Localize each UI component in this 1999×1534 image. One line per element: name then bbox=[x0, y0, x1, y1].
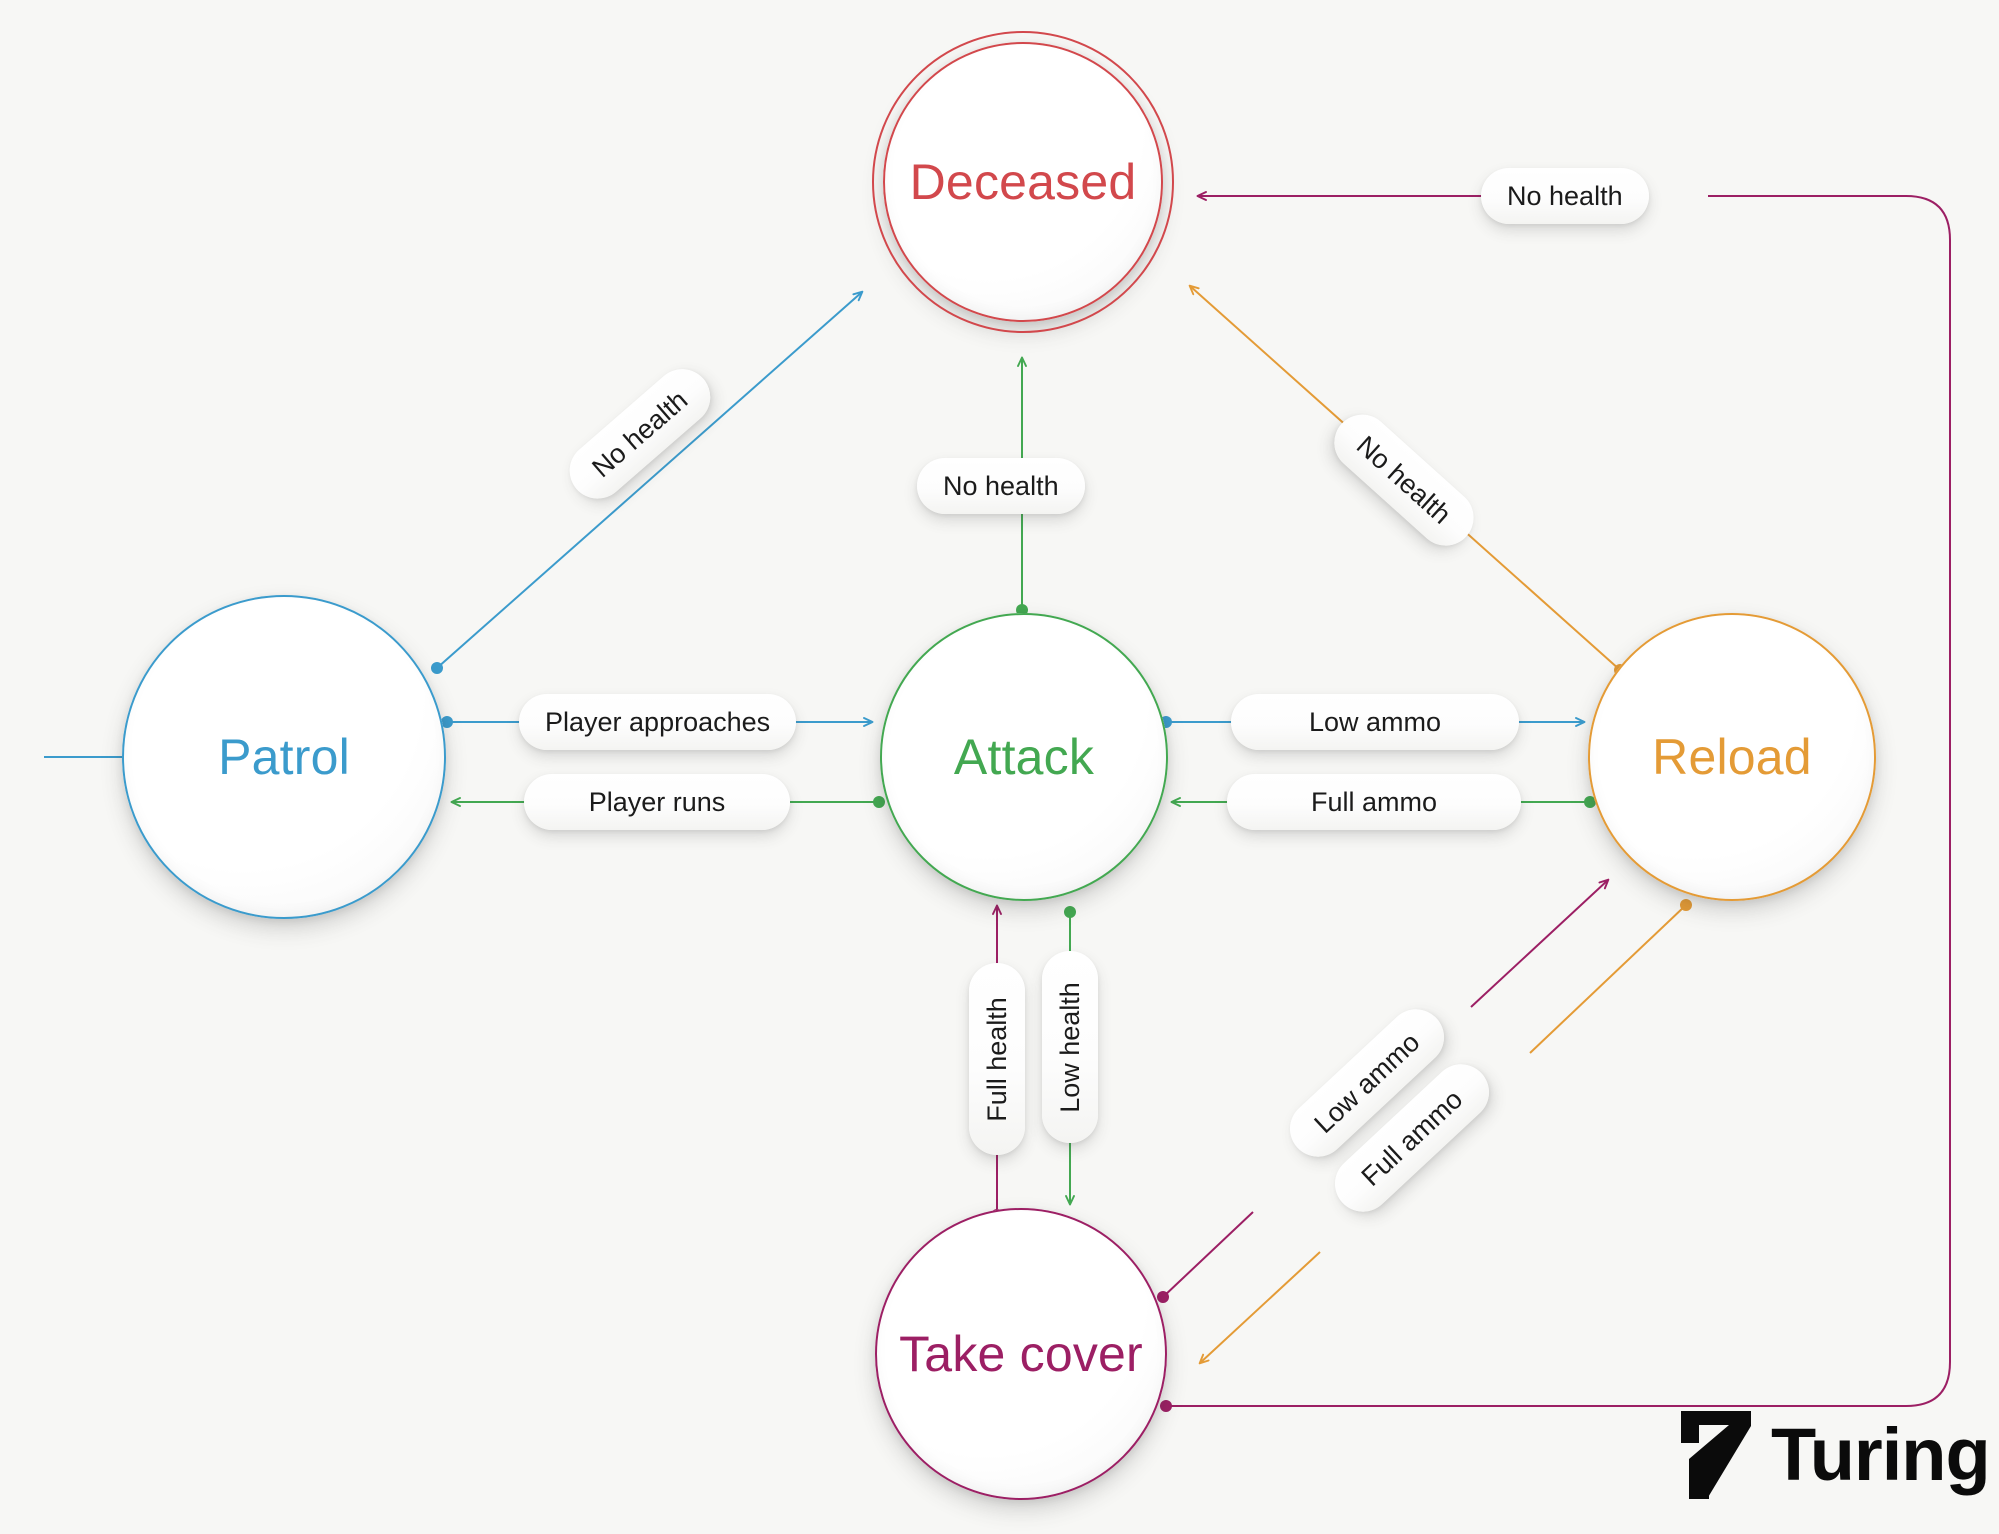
node-label-deceased: Deceased bbox=[910, 153, 1137, 211]
state-node-attack[interactable]: Attack bbox=[880, 613, 1168, 901]
state-node-takecover[interactable]: Take cover bbox=[875, 1208, 1167, 1500]
edge-label-attack-reload: Low ammo bbox=[1231, 694, 1519, 750]
turing-logo: Turing bbox=[1679, 1409, 1990, 1501]
node-label-attack: Attack bbox=[954, 728, 1094, 786]
state-node-patrol[interactable]: Patrol bbox=[122, 595, 446, 919]
node-label-reload: Reload bbox=[1652, 728, 1812, 786]
node-label-takecover: Take cover bbox=[899, 1325, 1143, 1383]
edge-label-attack-patrol: Player runs bbox=[524, 774, 790, 830]
node-label-patrol: Patrol bbox=[218, 728, 350, 786]
edge-label-patrol-attack: Player approaches bbox=[519, 694, 796, 750]
state-node-reload[interactable]: Reload bbox=[1588, 613, 1876, 901]
diagram-canvas: Patrol Deceased Attack Reload Take cover… bbox=[0, 0, 1999, 1534]
edge-label-reload-attack: Full ammo bbox=[1227, 774, 1521, 830]
state-node-deceased[interactable]: Deceased bbox=[883, 42, 1163, 322]
turing-seven-logo-icon bbox=[1679, 1409, 1753, 1501]
edge-label-attack-takecover: Low health bbox=[1042, 951, 1098, 1143]
turing-wordmark: Turing bbox=[1771, 1418, 1990, 1492]
edge-patrol-deceased bbox=[431, 292, 862, 674]
edge-label-takecover-attack: Full health bbox=[969, 963, 1025, 1155]
edge-label-takecover-deceased: No health bbox=[1481, 168, 1649, 224]
edge-label-attack-deceased: No health bbox=[917, 458, 1085, 514]
